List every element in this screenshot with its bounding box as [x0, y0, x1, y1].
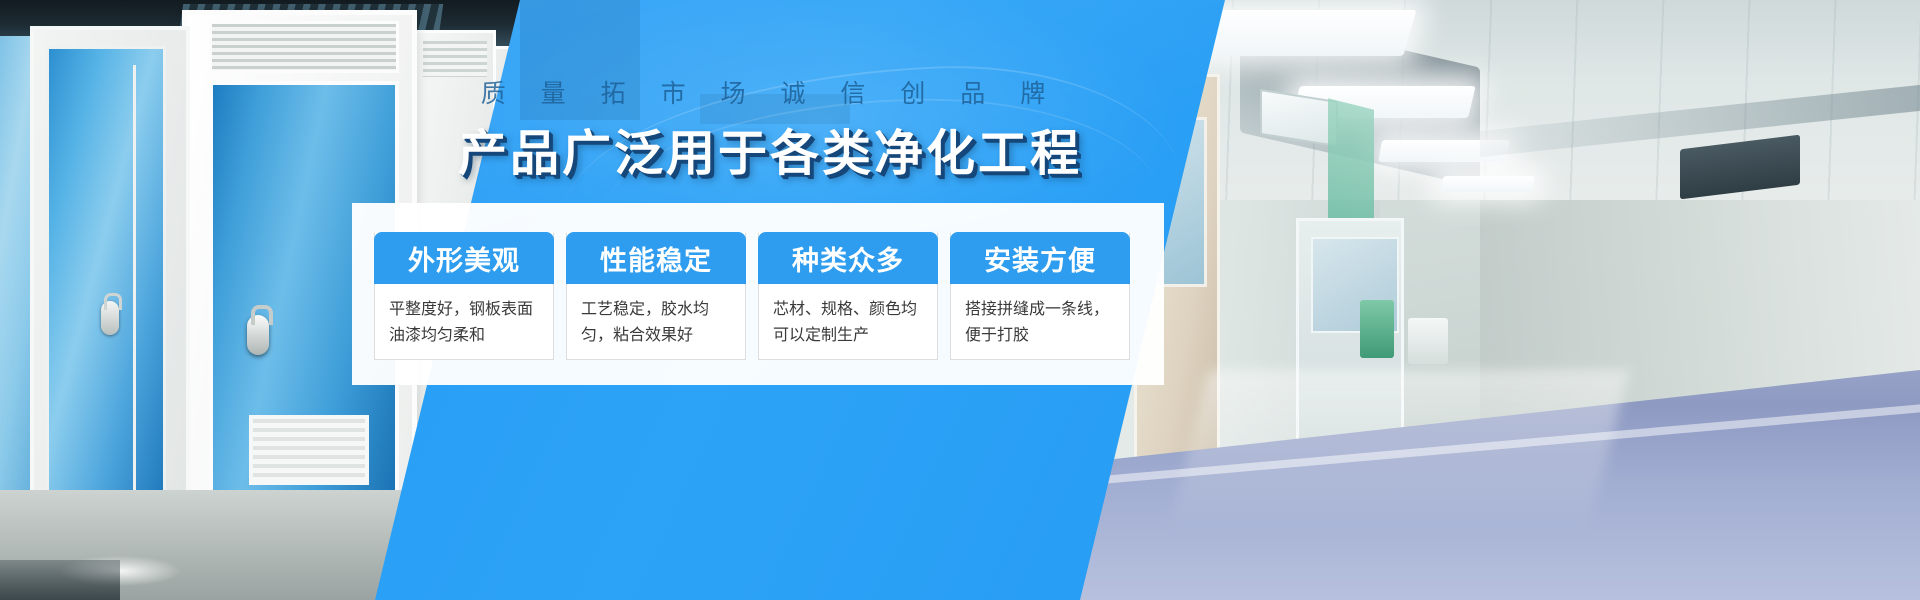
promo-banner: 质 量 拓 市 场 诚 信 创 品 牌 产品广泛用于各类净化工程 外形美观 平整… — [0, 0, 1920, 600]
cleanroom-floor-reflection — [1151, 370, 1628, 600]
feature-card-title: 外形美观 — [374, 232, 554, 284]
feature-card-body: 芯材、规格、颜色均可以定制生产 — [759, 284, 937, 359]
feature-card-panel: 外形美观 平整度好，钢板表面油漆均匀柔和 性能稳定 工艺稳定，胶水均匀，粘合效果… — [352, 203, 1164, 385]
feature-card[interactable]: 外形美观 平整度好，钢板表面油漆均匀柔和 — [374, 233, 554, 360]
banner-subtitle: 质 量 拓 市 场 诚 信 创 品 牌 — [0, 74, 1540, 110]
feature-card-title: 性能稳定 — [566, 232, 746, 284]
cabin-lower-vent — [249, 415, 369, 485]
feature-card-body: 工艺稳定，胶水均匀，粘合效果好 — [567, 284, 745, 359]
feature-card-title: 安装方便 — [950, 232, 1130, 284]
cleanroom-green-equipment — [1360, 300, 1394, 358]
feature-card[interactable]: 性能稳定 工艺稳定，胶水均匀，粘合效果好 — [566, 233, 746, 360]
banner-headline: 产品广泛用于各类净化工程 — [0, 114, 1540, 185]
feature-card-title: 种类众多 — [758, 232, 938, 284]
feature-card-body: 搭接拼缝成一条线，便于打胶 — [951, 284, 1129, 359]
cabin-second-lock — [101, 301, 119, 335]
left-photo-shadow — [0, 560, 120, 600]
feature-card[interactable]: 安装方便 搭接拼缝成一条线，便于打胶 — [950, 233, 1130, 360]
cabin-door-lock — [247, 315, 269, 355]
cabin-top-vent — [209, 21, 399, 73]
cleanroom-white-equipment — [1408, 318, 1448, 364]
feature-card-body: 平整度好，钢板表面油漆均匀柔和 — [375, 284, 553, 359]
feature-card[interactable]: 种类众多 芯材、规格、颜色均可以定制生产 — [758, 233, 938, 360]
